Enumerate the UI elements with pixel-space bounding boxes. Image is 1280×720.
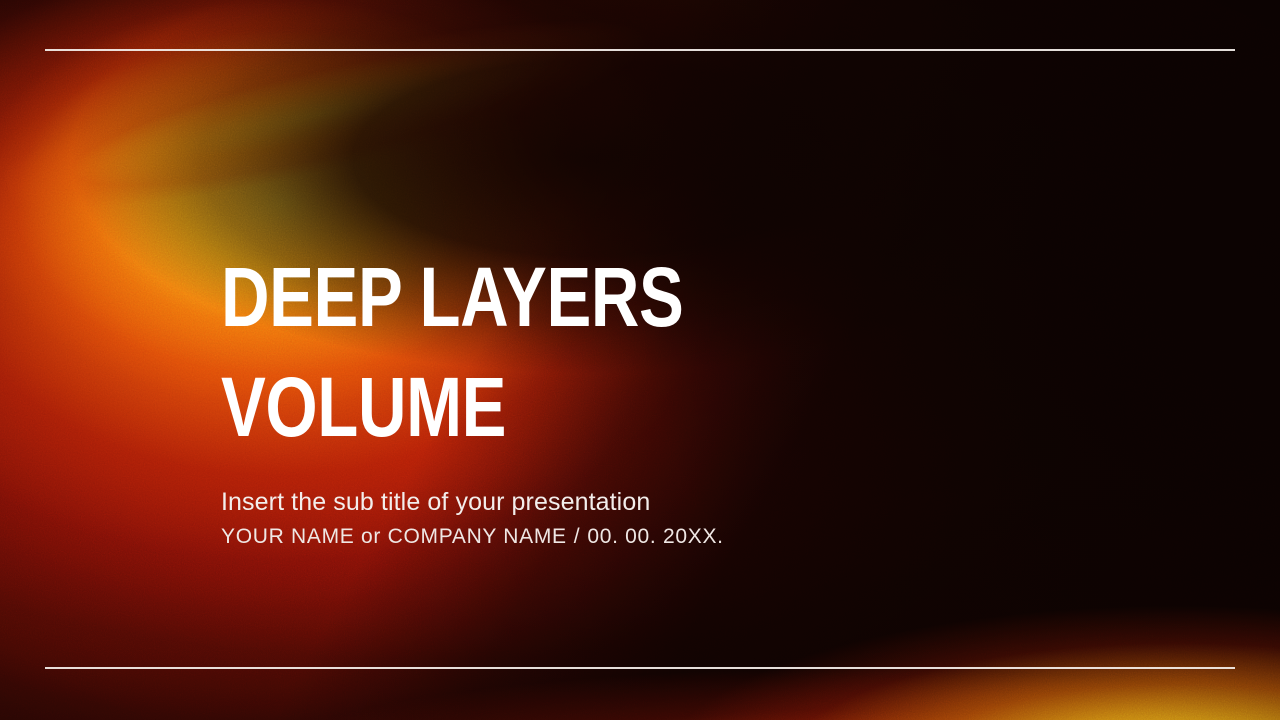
slide-subtitle: Insert the sub title of your presentatio… bbox=[221, 449, 941, 517]
byline-date: 00. 00. 20XX. bbox=[587, 525, 723, 548]
slide-title-line-2: VOLUME bbox=[221, 366, 797, 448]
title-text-block: DEEP LAYERS VOLUME Insert the sub title … bbox=[221, 256, 941, 548]
top-divider-rule bbox=[45, 49, 1235, 51]
byline-separator: / bbox=[567, 525, 588, 548]
slide-byline: YOUR NAME or COMPANY NAME/00. 00. 20XX. bbox=[221, 516, 941, 548]
bottom-divider-rule bbox=[45, 667, 1235, 669]
title-slide: DEEP LAYERS VOLUME Insert the sub title … bbox=[0, 0, 1280, 720]
byline-author: YOUR NAME or COMPANY NAME bbox=[221, 525, 567, 548]
slide-title-line-1: DEEP LAYERS bbox=[221, 256, 797, 338]
